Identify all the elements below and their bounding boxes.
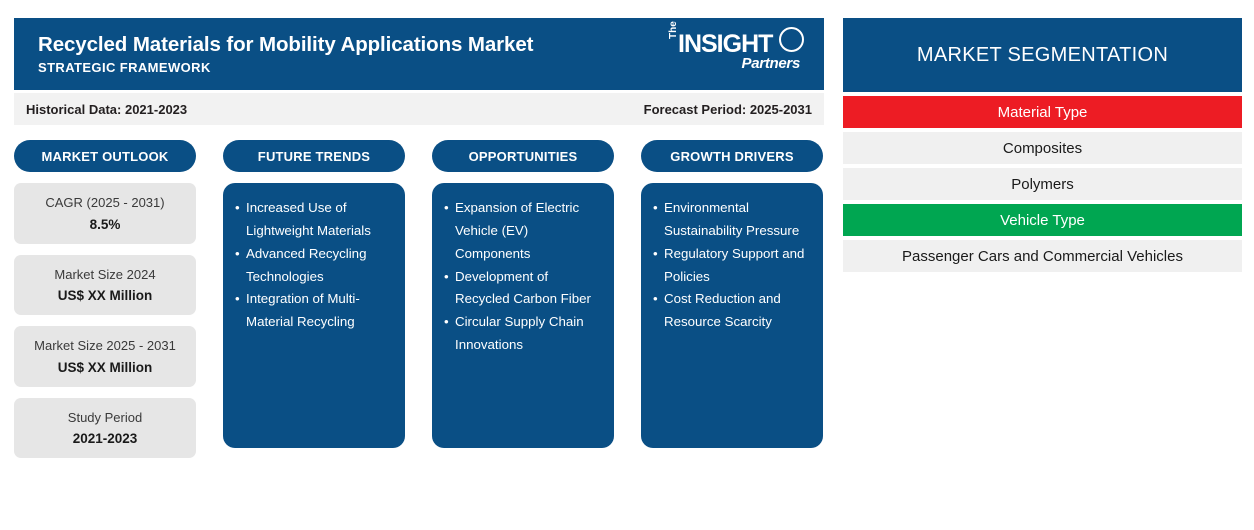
pill-market-outlook[interactable]: MARKET OUTLOOK <box>14 140 196 172</box>
stat-label: Market Size 2024 <box>22 266 188 284</box>
list-item: Passenger Cars and Commercial Vehicles <box>843 240 1242 272</box>
stat-value: US$ XX Million <box>22 288 188 303</box>
list-item: Integration of Multi-Material Recycling <box>235 288 393 334</box>
stat-card-study-period: Study Period 2021-2023 <box>14 398 196 459</box>
column-growth-drivers: GROWTH DRIVERS Environmental Sustainabil… <box>641 140 823 458</box>
report-header-bar: Recycled Materials for Mobility Applicat… <box>14 18 824 90</box>
bullet-card-opportunities: Expansion of Electric Vehicle (EV) Compo… <box>432 183 614 448</box>
bullet-card-future-trends: Increased Use of Lightweight Materials A… <box>223 183 405 448</box>
stat-value: US$ XX Million <box>22 360 188 375</box>
column-future-trends: FUTURE TRENDS Increased Use of Lightweig… <box>223 140 405 458</box>
bullet-list: Increased Use of Lightweight Materials A… <box>235 197 393 334</box>
stat-label: CAGR (2025 - 2031) <box>22 194 188 212</box>
period-bar: Historical Data: 2021-2023 Forecast Peri… <box>14 93 824 125</box>
stat-value: 2021-2023 <box>22 431 188 446</box>
list-item: Regulatory Support and Policies <box>653 243 811 289</box>
header-text-group: Recycled Materials for Mobility Applicat… <box>38 33 533 75</box>
stat-label: Study Period <box>22 409 188 427</box>
segmentation-group-vehicle-type: Vehicle Type Passenger Cars and Commerci… <box>843 204 1242 272</box>
stat-card-market-size-2024: Market Size 2024 US$ XX Million <box>14 255 196 316</box>
stat-value: 8.5% <box>22 217 188 232</box>
segmentation-group-title: Material Type <box>843 96 1242 128</box>
segmentation-title: MARKET SEGMENTATION <box>843 18 1242 92</box>
logo-ring-icon <box>779 27 804 52</box>
list-item: Increased Use of Lightweight Materials <box>235 197 393 243</box>
logo-insight-text: INSIGHT <box>678 32 772 57</box>
market-segmentation-panel: MARKET SEGMENTATION Material Type Compos… <box>843 18 1242 272</box>
list-item: Advanced Recycling Technologies <box>235 243 393 289</box>
list-item: Environmental Sustainability Pressure <box>653 197 811 243</box>
bullet-list: Environmental Sustainability Pressure Re… <box>653 197 811 334</box>
pill-growth-drivers[interactable]: GROWTH DRIVERS <box>641 140 823 172</box>
report-infographic-left-panel: Recycled Materials for Mobility Applicat… <box>14 18 824 458</box>
column-market-outlook: MARKET OUTLOOK CAGR (2025 - 2031) 8.5% M… <box>14 140 196 458</box>
pill-future-trends[interactable]: FUTURE TRENDS <box>223 140 405 172</box>
stat-card-cagr: CAGR (2025 - 2031) 8.5% <box>14 183 196 244</box>
list-item: Polymers <box>843 168 1242 200</box>
stat-label: Market Size 2025 - 2031 <box>22 337 188 355</box>
framework-columns: MARKET OUTLOOK CAGR (2025 - 2031) 8.5% M… <box>14 140 824 458</box>
stat-card-market-size-forecast: Market Size 2025 - 2031 US$ XX Million <box>14 326 196 387</box>
pill-opportunities[interactable]: OPPORTUNITIES <box>432 140 614 172</box>
list-item: Cost Reduction and Resource Scarcity <box>653 288 811 334</box>
list-item: Development of Recycled Carbon Fiber <box>444 266 602 312</box>
insight-partners-logo: The INSIGHT Partners <box>666 26 806 82</box>
forecast-period-label: Forecast Period: 2025-2031 <box>644 102 812 117</box>
historical-data-label: Historical Data: 2021-2023 <box>26 102 187 117</box>
bullet-list: Expansion of Electric Vehicle (EV) Compo… <box>444 197 602 357</box>
list-item: Circular Supply Chain Innovations <box>444 311 602 357</box>
page-title: Recycled Materials for Mobility Applicat… <box>38 33 533 57</box>
page-subtitle: STRATEGIC FRAMEWORK <box>38 60 533 75</box>
column-opportunities: OPPORTUNITIES Expansion of Electric Vehi… <box>432 140 614 458</box>
list-item: Expansion of Electric Vehicle (EV) Compo… <box>444 197 602 266</box>
segmentation-group-title: Vehicle Type <box>843 204 1242 236</box>
segmentation-group-material-type: Material Type Composites Polymers <box>843 96 1242 200</box>
list-item: Composites <box>843 132 1242 164</box>
bullet-card-growth-drivers: Environmental Sustainability Pressure Re… <box>641 183 823 448</box>
logo-partners-text: Partners <box>742 56 800 71</box>
